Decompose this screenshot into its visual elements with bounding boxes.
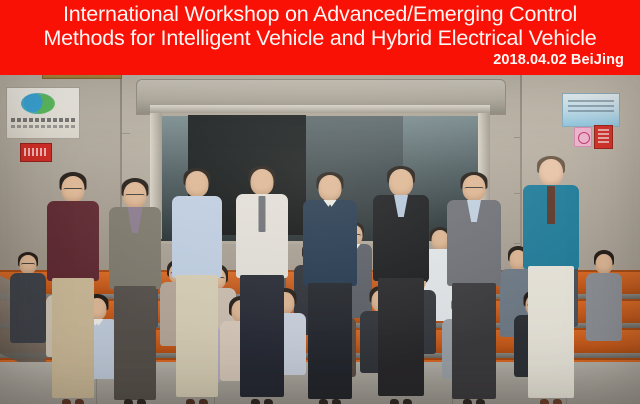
banner-title-line-1: International Workshop on Advanced/Emerg…	[0, 2, 640, 27]
person-front-row	[370, 166, 432, 404]
person-front-row	[232, 166, 292, 404]
person-front-row	[106, 174, 164, 404]
person-back-row	[8, 244, 48, 404]
event-banner: International Workshop on Advanced/Emerg…	[0, 0, 640, 75]
banner-title-line-2: Methods for Intelligent Vehicle and Hybr…	[0, 26, 640, 51]
group-photograph	[0, 75, 640, 404]
sign-english-text	[11, 125, 75, 128]
person-front-row	[300, 170, 360, 404]
institution-logo-icon	[21, 93, 55, 114]
wall-notice-board	[562, 93, 620, 127]
person-front-row	[168, 168, 226, 404]
screenshot-root: International Workshop on Advanced/Emerg…	[0, 0, 640, 404]
person-back-row	[584, 240, 624, 404]
banner-date-location: 2018.04.02 BeiJing	[493, 52, 624, 69]
person-front-row	[44, 172, 102, 404]
red-sticker-icon	[594, 125, 613, 149]
red-wall-plate	[20, 143, 52, 162]
sign-chinese-text	[11, 118, 75, 122]
person-front-row	[444, 170, 504, 404]
building-name-sign	[6, 87, 80, 139]
person-front-row	[520, 160, 582, 404]
pink-sticker-icon	[574, 127, 592, 147]
amber-wall-plaque	[42, 75, 122, 79]
